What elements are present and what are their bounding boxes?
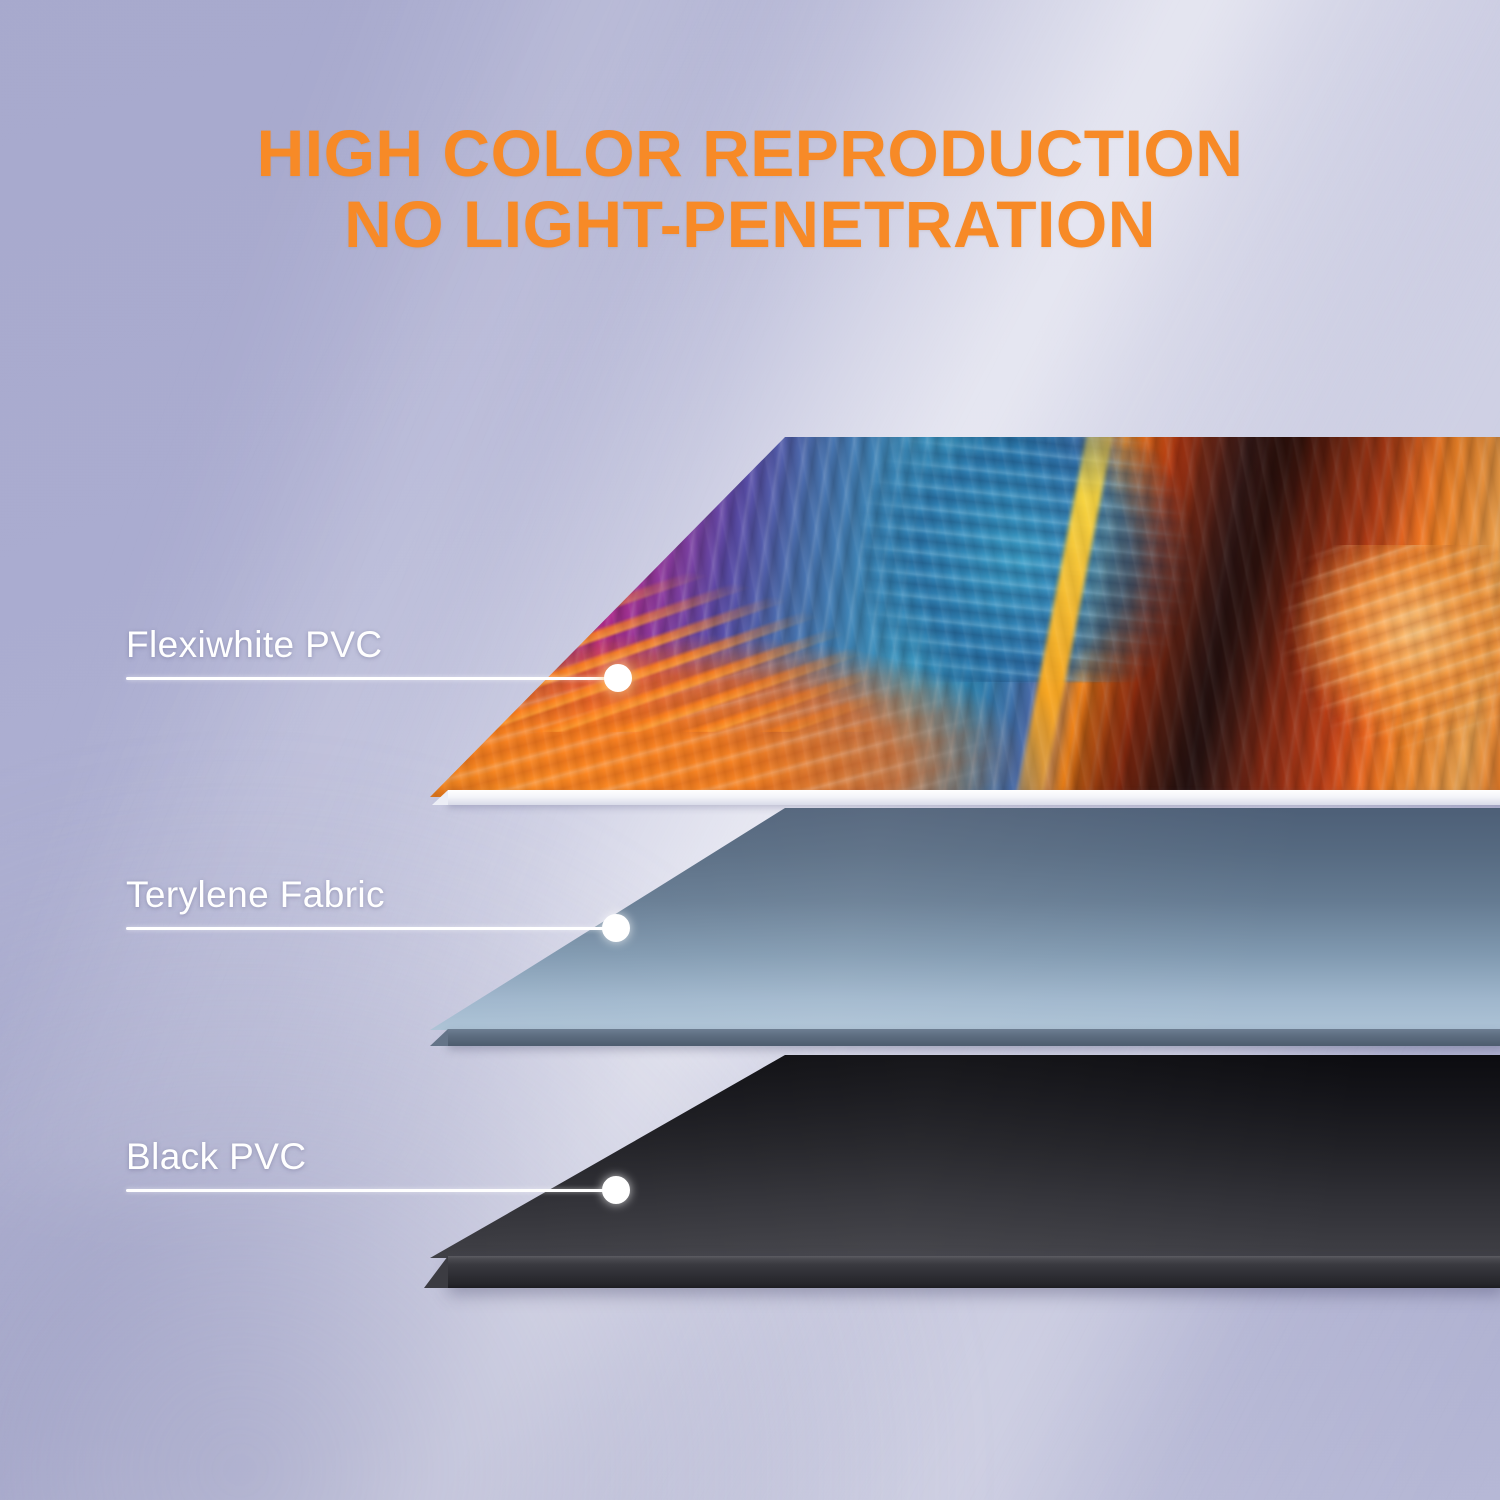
callout-marker-dot (602, 1176, 630, 1204)
callout-marker-dot (604, 664, 632, 692)
layer-flexiwhite-pvc-surface (430, 437, 1500, 797)
layer-terylene-fabric-surface (430, 808, 1500, 1030)
black-pvc-sheen (430, 1055, 1500, 1258)
headline-line-2: NO LIGHT-PENETRATION (0, 189, 1500, 260)
callout-label-black-pvc: Black PVC (126, 1136, 306, 1178)
layer-terylene-fabric-edge (448, 1029, 1500, 1046)
callout-label-flexiwhite-pvc: Flexiwhite PVC (126, 624, 382, 666)
callout-leader-line (126, 677, 618, 680)
callout-label-terylene-fabric: Terylene Fabric (126, 874, 385, 916)
printed-artwork (430, 437, 1500, 797)
callout-leader-line (126, 1189, 616, 1192)
layer-black-pvc-edge (448, 1256, 1500, 1288)
callout-marker-dot (602, 914, 630, 942)
artwork-vignette (430, 437, 1500, 797)
layer-black-pvc-surface (430, 1055, 1500, 1258)
headline-line-1: HIGH COLOR REPRODUCTION (0, 118, 1500, 189)
terylene-sheen (430, 808, 1500, 1030)
layer-flexiwhite-pvc-edge (448, 790, 1500, 805)
product-infographic: HIGH COLOR REPRODUCTION NO LIGHT-PENETRA… (0, 0, 1500, 1500)
callout-leader-line (126, 927, 616, 930)
headline-block: HIGH COLOR REPRODUCTION NO LIGHT-PENETRA… (0, 118, 1500, 259)
